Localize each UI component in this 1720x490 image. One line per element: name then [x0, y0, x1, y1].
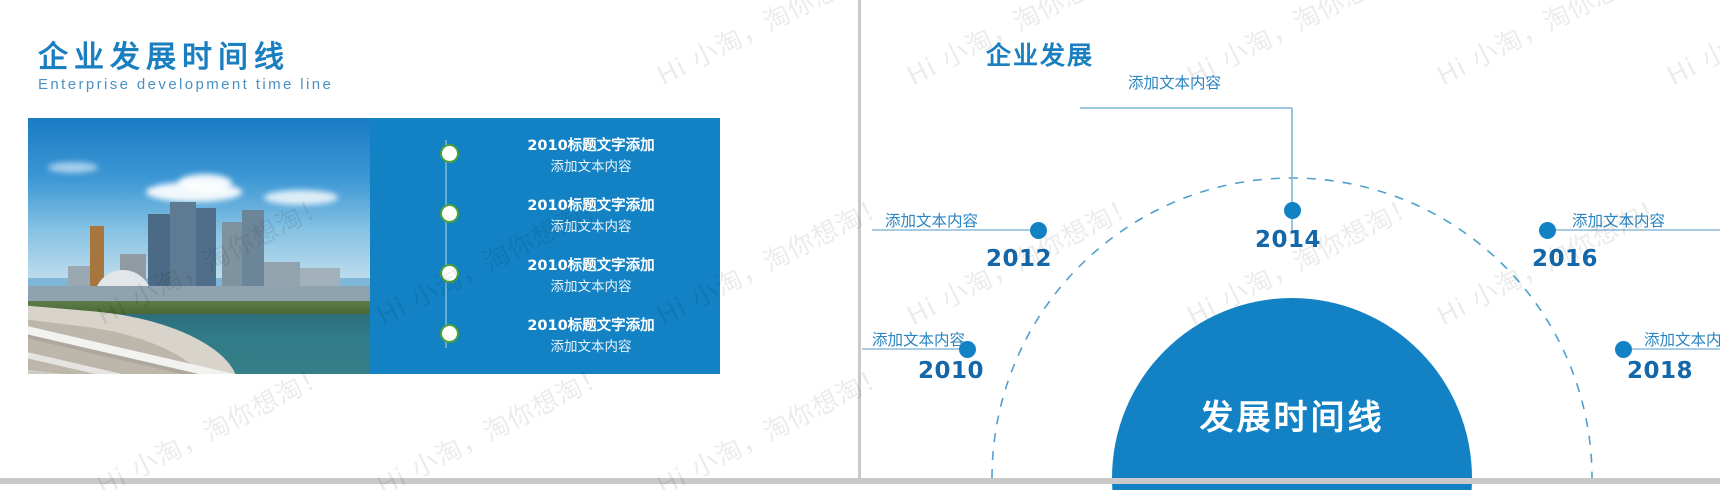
- list-item-desc: 添加文本内容: [476, 275, 706, 295]
- node-year-2010: 2010: [918, 358, 984, 384]
- node-dot-2012[interactable]: [1030, 222, 1047, 239]
- node-text-2012: 添加文本内容: [885, 209, 978, 231]
- list-item-title: 2010标题文字添加: [476, 134, 706, 155]
- bullet-icon: [440, 204, 459, 223]
- center-label: 发展时间线: [1112, 390, 1472, 439]
- list-item-desc: 添加文本内容: [476, 335, 706, 355]
- node-year-2014: 2014: [1255, 227, 1321, 253]
- list-item-title: 2010标题文字添加: [476, 314, 706, 335]
- node-dot-2018[interactable]: [1615, 341, 1632, 358]
- slide-bottom-border: [0, 478, 1720, 484]
- node-text-2016: 添加文本内容: [1572, 209, 1665, 231]
- node-text-2014: 添加文本内容: [1128, 71, 1221, 93]
- cloud-shape: [48, 162, 98, 173]
- node-dot-2016[interactable]: [1539, 222, 1556, 239]
- list-item[interactable]: 2010标题文字添加 添加文本内容: [380, 138, 710, 190]
- bullet-icon: [440, 144, 459, 163]
- node-year-2018: 2018: [1627, 358, 1693, 384]
- node-text-2018: 添加文本内容: [1644, 328, 1720, 350]
- list-item[interactable]: 2010标题文字添加 添加文本内容: [380, 318, 710, 370]
- node-text-2010: 添加文本内容: [872, 328, 965, 350]
- city-photo: [28, 118, 370, 374]
- slide-divider: [858, 0, 861, 484]
- bullet-icon: [440, 324, 459, 343]
- cloud-shape: [264, 190, 338, 205]
- list-item-title: 2010标题文字添加: [476, 254, 706, 275]
- presentation-stage: 企业发展时间线 Enterprise development time line: [0, 0, 1720, 490]
- node-dot-2010[interactable]: [959, 341, 976, 358]
- slide-left: 企业发展时间线 Enterprise development time line: [0, 0, 860, 490]
- page-title: 企业发展时间线: [38, 32, 290, 76]
- node-year-2012: 2012: [986, 246, 1052, 272]
- list-item[interactable]: 2010标题文字添加 添加文本内容: [380, 258, 710, 310]
- list-item-title: 2010标题文字添加: [476, 194, 706, 215]
- list-item-desc: 添加文本内容: [476, 155, 706, 175]
- cloud-shape: [178, 174, 232, 192]
- node-year-2016: 2016: [1532, 246, 1598, 272]
- list-item-desc: 添加文本内容: [476, 215, 706, 235]
- list-item[interactable]: 2010标题文字添加 添加文本内容: [380, 198, 710, 250]
- node-dot-2014[interactable]: [1284, 202, 1301, 219]
- bullet-icon: [440, 264, 459, 283]
- page-subtitle: Enterprise development time line: [38, 76, 333, 93]
